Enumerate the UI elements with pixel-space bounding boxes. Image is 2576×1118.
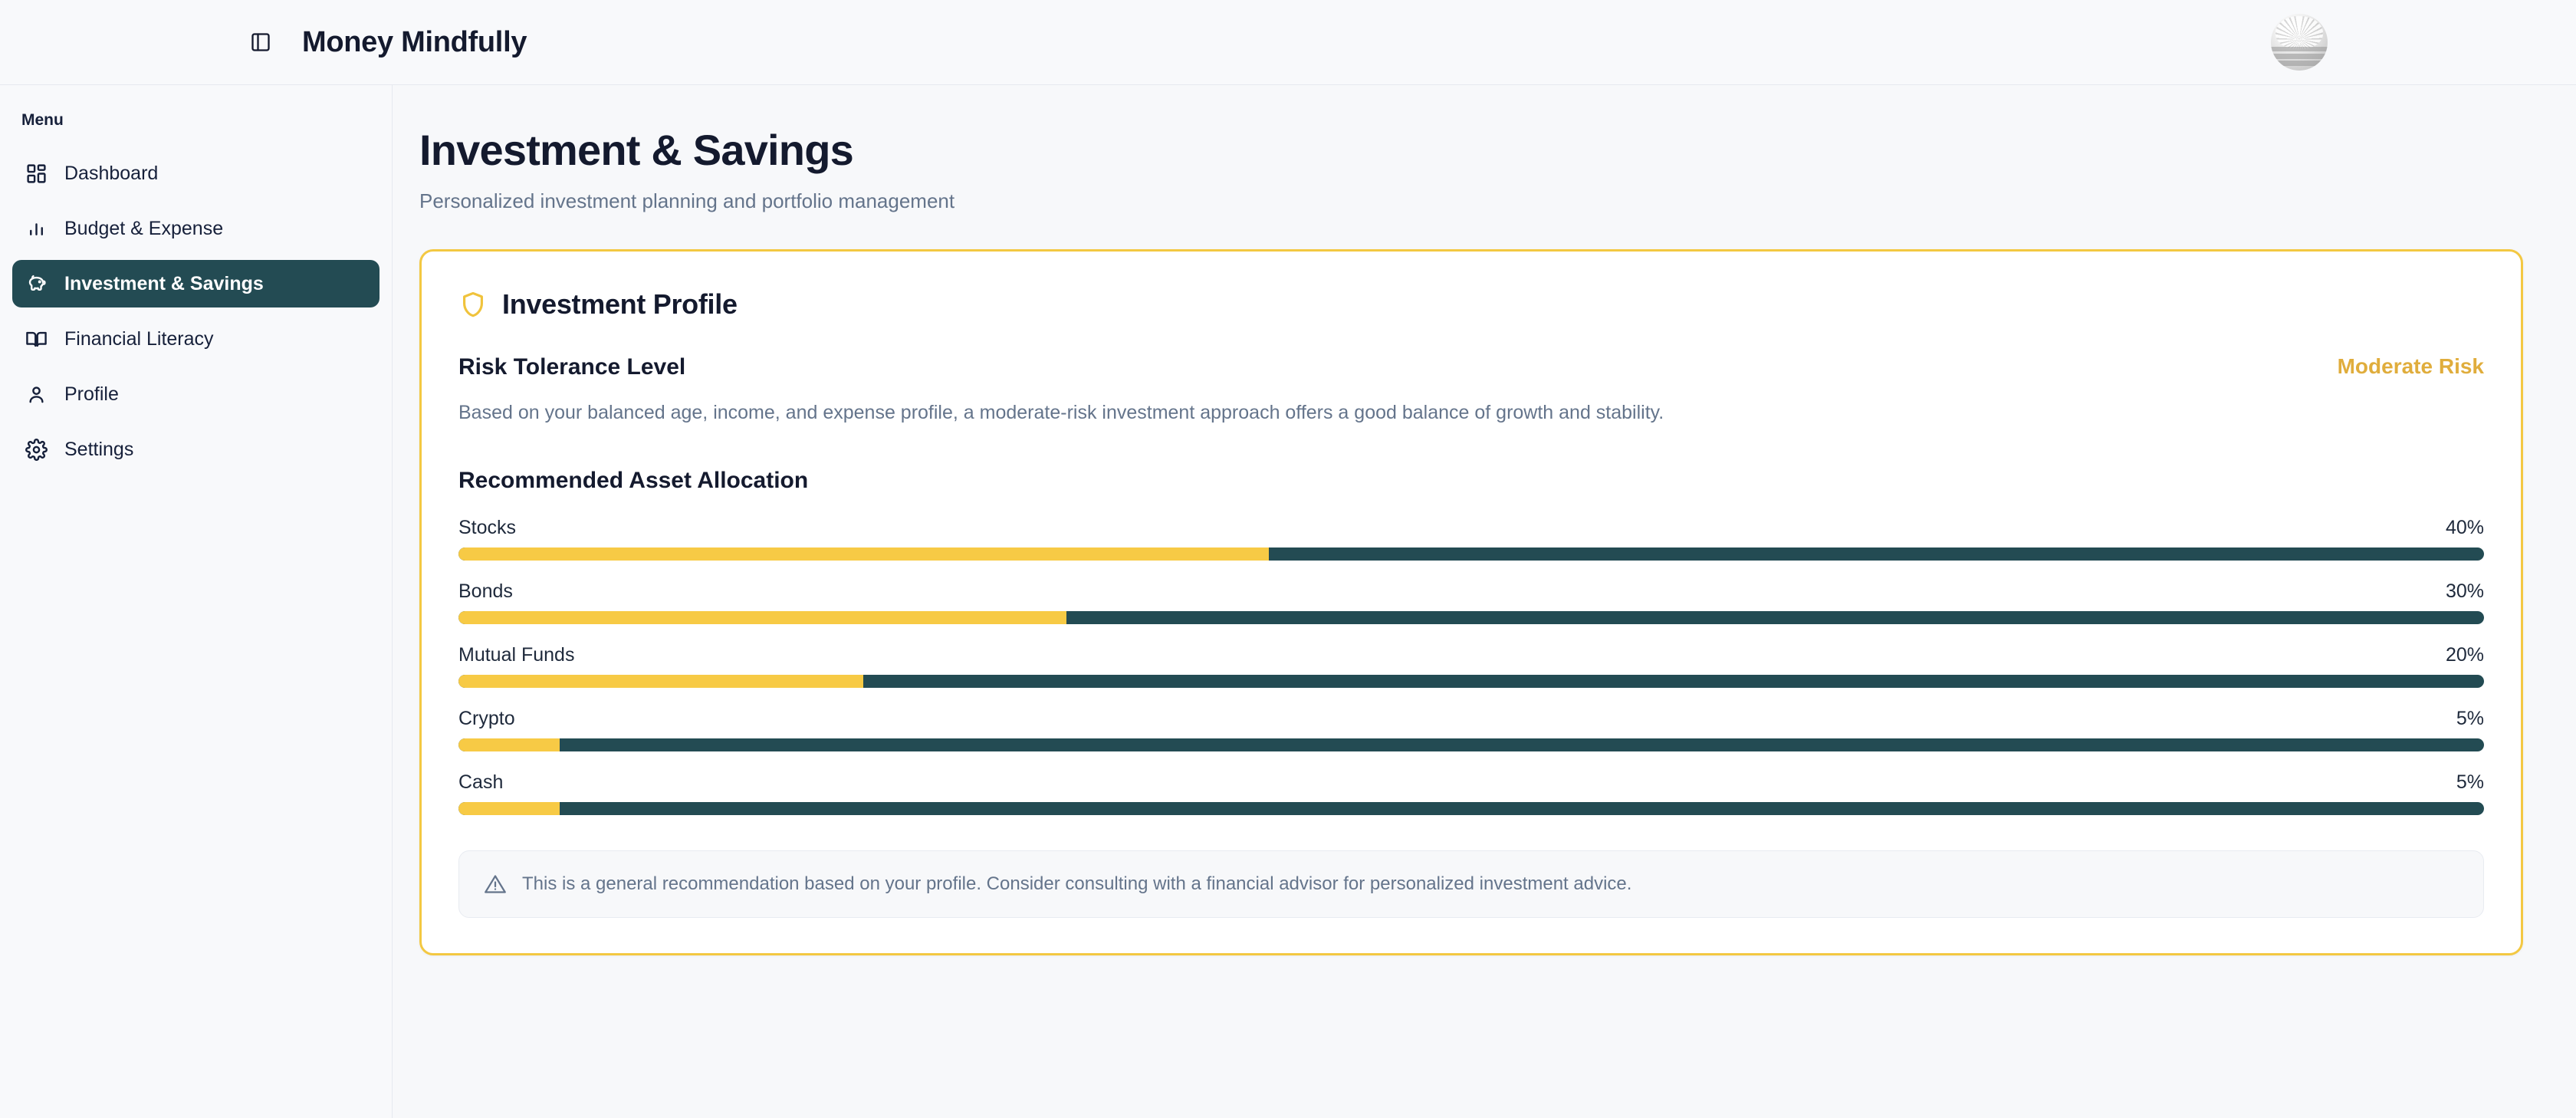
sidebar-item-settings[interactable]: Settings [12,426,379,473]
bar-chart-icon [25,217,48,240]
sidebar-item-dashboard[interactable]: Dashboard [12,150,379,197]
sidebar-item-label: Investment & Savings [64,273,264,295]
avatar-image-detail [2271,61,2328,66]
disclaimer-note: This is a general recommendation based o… [458,850,2484,918]
allocation-value: 5% [2456,708,2484,730]
page-title: Investment & Savings [419,125,2522,176]
user-icon [25,383,48,406]
allocation-value: 30% [2446,580,2484,603]
allocation-row: Stocks 40% [458,517,2484,561]
sidebar-item-financial-literacy[interactable]: Financial Literacy [12,315,379,363]
allocation-row: Bonds 30% [458,580,2484,624]
brand-title: Money Mindfully [302,26,527,59]
shield-icon [458,290,488,319]
allocation-bar-track [458,802,2484,815]
sidebar-item-label: Dashboard [64,163,158,185]
piggy-bank-icon [25,272,48,295]
gear-icon [25,438,48,461]
allocation-value: 20% [2446,644,2484,666]
avatar[interactable] [2271,14,2328,71]
disclaimer-text: This is a general recommendation based o… [522,873,1631,895]
allocation-bar-fill [458,802,560,815]
allocation-value: 5% [2456,771,2484,794]
allocation-heading: Recommended Asset Allocation [458,468,2484,494]
allocation-bar-track [458,611,2484,624]
sidebar: Menu Dashboard Budget & Expense Investme… [0,85,393,1118]
allocation-value: 40% [2446,517,2484,539]
sidebar-toggle-button[interactable] [244,25,278,59]
status-badge: Moderate Risk [2338,354,2484,379]
sidebar-item-label: Financial Literacy [64,328,214,350]
allocation-label: Crypto [458,708,515,730]
allocation-row: Cash 5% [458,771,2484,815]
sidebar-item-label: Settings [64,439,133,461]
allocation-bar-fill [458,547,1269,561]
main-content: Investment & Savings Personalized invest… [393,85,2576,1118]
card-title: Investment Profile [502,288,738,321]
asset-allocation-list: Stocks 40% Bonds 30% Mutual Funds [458,517,2484,815]
avatar-image-detail [2271,47,2328,51]
risk-tolerance-row: Risk Tolerance Level Moderate Risk [458,354,2484,380]
page-subtitle: Personalized investment planning and por… [419,189,2522,213]
allocation-bar-track [458,738,2484,751]
avatar-image [2275,16,2323,49]
allocation-label: Mutual Funds [458,644,574,666]
allocation-row: Crypto 5% [458,708,2484,751]
allocation-bar-fill [458,738,560,751]
sidebar-item-label: Budget & Expense [64,218,223,240]
allocation-bar-fill [458,675,863,688]
allocation-bar-track [458,547,2484,561]
grid-icon [25,162,48,185]
risk-tolerance-label: Risk Tolerance Level [458,354,685,380]
warning-triangle-icon [484,873,507,896]
panel-left-icon [250,31,271,53]
sidebar-heading: Menu [0,111,392,130]
top-header-bar: Money Mindfully [0,0,2576,85]
allocation-bar-fill [458,611,1066,624]
book-open-icon [25,327,48,350]
sidebar-item-investment-savings[interactable]: Investment & Savings [12,260,379,307]
allocation-label: Stocks [458,517,516,539]
investment-profile-card: Investment Profile Risk Tolerance Level … [419,249,2523,955]
sidebar-item-budget-expense[interactable]: Budget & Expense [12,205,379,252]
risk-description: Based on your balanced age, income, and … [458,400,2484,426]
card-header: Investment Profile [458,288,2484,321]
allocation-row: Mutual Funds 20% [458,644,2484,688]
avatar-image-detail [2271,54,2328,59]
allocation-label: Bonds [458,580,513,603]
allocation-label: Cash [458,771,503,794]
sidebar-item-profile[interactable]: Profile [12,370,379,418]
sidebar-item-label: Profile [64,383,119,406]
allocation-bar-track [458,675,2484,688]
